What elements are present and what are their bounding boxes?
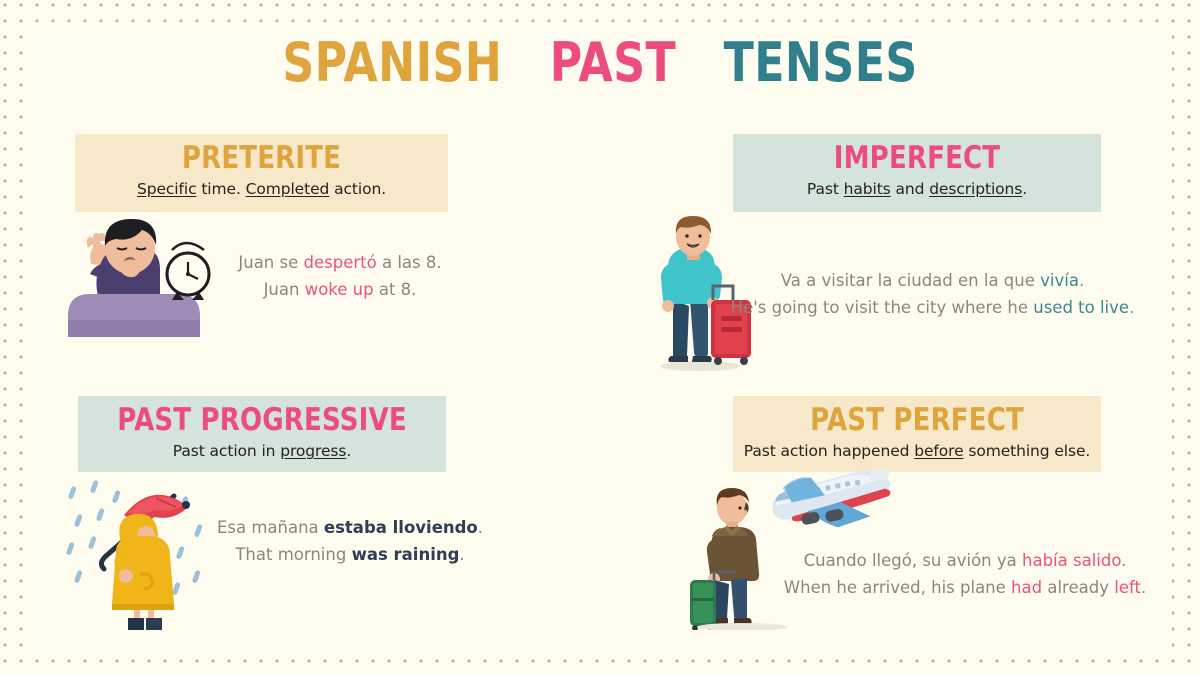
title-word-spanish: SPANISH bbox=[282, 31, 502, 94]
heading-imperfect: IMPERFECT bbox=[762, 142, 1071, 175]
example-imperfect-english: He's going to visit the city where he us… bbox=[700, 295, 1165, 322]
title-word-tenses: TENSES bbox=[724, 31, 918, 94]
example-past-progressive: Esa mañana estaba lloviendo. That mornin… bbox=[200, 515, 500, 568]
rule-imperfect: Past habits and descriptions. bbox=[733, 180, 1101, 198]
illustration-person-with-umbrella-in-rain bbox=[62, 470, 212, 630]
title-word-past: PAST bbox=[550, 31, 676, 94]
example-past-perfect-spanish: Cuando llegó, su avión ya había salido. bbox=[755, 548, 1175, 575]
example-preterite-english: Juan woke up at 8. bbox=[205, 277, 475, 304]
example-past-progressive-english: That morning was raining. bbox=[200, 542, 500, 569]
example-preterite-spanish: Juan se despertó a las 8. bbox=[205, 250, 475, 277]
card-header-past-progressive: PAST PROGRESSIVE Past action in progress… bbox=[78, 396, 446, 472]
page-title: SPANISH PAST TENSES bbox=[108, 36, 1092, 90]
rule-preterite: Specific time. Completed action. bbox=[75, 180, 448, 198]
card-header-past-perfect: PAST PERFECT Past action happened before… bbox=[733, 396, 1101, 472]
example-preterite: Juan se despertó a las 8. Juan woke up a… bbox=[205, 250, 475, 303]
rule-past-perfect: Past action happened before something el… bbox=[733, 442, 1101, 460]
heading-past-progressive: PAST PROGRESSIVE bbox=[107, 404, 416, 437]
heading-past-perfect: PAST PERFECT bbox=[762, 404, 1071, 437]
rule-past-progressive: Past action in progress. bbox=[78, 442, 446, 460]
example-past-progressive-spanish: Esa mañana estaba lloviendo. bbox=[200, 515, 500, 542]
heading-preterite: PRETERITE bbox=[105, 142, 418, 175]
example-imperfect-spanish: Va a visitar la ciudad en la que vivía. bbox=[700, 268, 1165, 295]
card-header-preterite: PRETERITE Specific time. Completed actio… bbox=[75, 134, 448, 212]
example-past-perfect: Cuando llegó, su avión ya había salido. … bbox=[755, 548, 1175, 601]
example-past-perfect-english: When he arrived, his plane had already l… bbox=[755, 575, 1175, 602]
example-imperfect: Va a visitar la ciudad en la que vivía. … bbox=[700, 268, 1165, 321]
card-header-imperfect: IMPERFECT Past habits and descriptions. bbox=[733, 134, 1101, 212]
